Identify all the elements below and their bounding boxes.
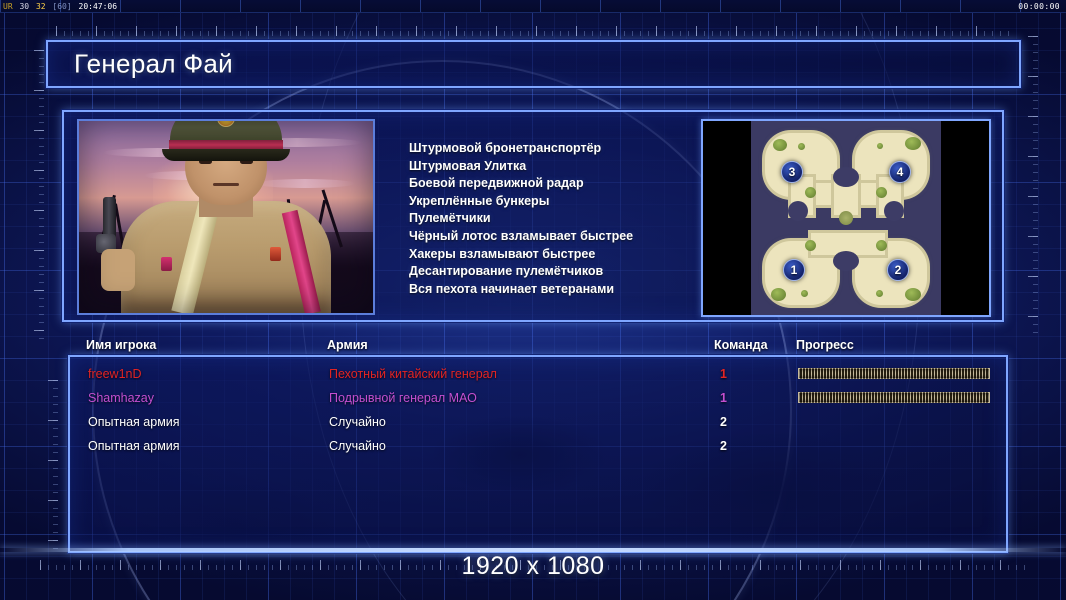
map-tree-cluster xyxy=(905,137,921,150)
ability-list: Штурмовой бронетранспортёр Штурмовая Ули… xyxy=(409,140,699,298)
ability-item: Штурмовая Улитка xyxy=(409,158,699,176)
page-title: Генерал Фай xyxy=(74,49,233,80)
column-header-progress: Прогресс xyxy=(796,338,854,352)
performance-readout: UR 30 32 [60] 20:47:06 xyxy=(2,0,118,13)
ruler-top xyxy=(56,26,1016,36)
map-tree-cluster xyxy=(801,290,808,297)
ruler-right xyxy=(1028,36,1038,336)
table-row[interactable]: freew1nD Пехотный китайский генерал 1 xyxy=(70,363,1006,387)
map-terrain-pit xyxy=(833,167,859,187)
perf-timestamp: 20:47:06 xyxy=(78,2,119,11)
map-letterbox-right xyxy=(941,121,989,315)
map-tree-cluster xyxy=(773,139,787,151)
map-canvas: 3 4 1 2 xyxy=(751,121,941,315)
map-tree-cluster xyxy=(877,143,883,149)
perf-bracket: [60] xyxy=(51,2,72,11)
player-name[interactable]: Опытная армия xyxy=(88,437,180,455)
general-portrait xyxy=(77,119,375,315)
map-terrain-pit xyxy=(788,201,808,221)
progress-bar-fill xyxy=(798,392,990,403)
player-army[interactable]: Случайно xyxy=(329,437,386,455)
map-tree-cluster xyxy=(876,290,883,297)
map-spawn-marker-4[interactable]: 4 xyxy=(889,161,911,183)
portrait-vignette xyxy=(79,121,373,313)
table-row[interactable]: Опытная армия Случайно 2 xyxy=(70,435,1006,459)
map-spawn-marker-2[interactable]: 2 xyxy=(887,259,909,281)
column-header-team: Команда xyxy=(714,338,768,352)
player-team[interactable]: 2 xyxy=(720,437,727,455)
player-team[interactable]: 1 xyxy=(720,365,727,383)
map-tree-cluster xyxy=(905,288,921,301)
ruler-left-lower xyxy=(48,380,58,550)
perf-label-ur: UR xyxy=(2,2,14,11)
player-name[interactable]: freew1nD xyxy=(88,365,142,383)
player-progress xyxy=(798,392,990,403)
map-spawn-marker-3[interactable]: 3 xyxy=(781,161,803,183)
ability-item: Укреплённые бункеры xyxy=(409,193,699,211)
table-row[interactable]: Опытная армия Случайно 2 xyxy=(70,411,1006,435)
general-info-panel: Штурмовой бронетранспортёр Штурмовая Ули… xyxy=(62,110,1004,322)
map-terrain-pit xyxy=(884,201,904,221)
map-tree-cluster xyxy=(798,143,805,150)
map-terrain-pit xyxy=(833,251,859,271)
game-lobby-screen: UR 30 32 [60] 20:47:06 00:00:00 Генерал … xyxy=(0,0,1066,600)
map-tree-cluster xyxy=(876,240,887,251)
player-team[interactable]: 2 xyxy=(720,413,727,431)
ruler-left xyxy=(34,50,44,340)
perf-fps: 30 xyxy=(18,2,30,11)
map-tree-cluster xyxy=(876,187,887,198)
map-tree-cluster xyxy=(805,240,816,251)
column-header-army: Армия xyxy=(327,338,368,352)
match-clock: 00:00:00 xyxy=(1018,0,1060,13)
ability-item: Хакеры взламывают быстрее xyxy=(409,246,699,264)
map-tree-cluster xyxy=(805,187,816,198)
table-row[interactable]: Shamhazay Подрывной генерал МАО 1 xyxy=(70,387,1006,411)
ability-item: Штурмовой бронетранспортёр xyxy=(409,140,699,158)
ability-item: Боевой передвижной радар xyxy=(409,175,699,193)
player-army[interactable]: Подрывной генерал МАО xyxy=(329,389,477,407)
player-team[interactable]: 1 xyxy=(720,389,727,407)
ability-item: Десантирование пулемётчиков xyxy=(409,263,699,281)
player-progress xyxy=(798,368,990,379)
progress-bar-fill xyxy=(798,368,990,379)
player-army[interactable]: Пехотный китайский генерал xyxy=(329,365,497,383)
player-roster-panel: freew1nD Пехотный китайский генерал 1 Sh… xyxy=(68,355,1008,553)
player-name[interactable]: Опытная армия xyxy=(88,413,180,431)
player-name[interactable]: Shamhazay xyxy=(88,389,154,407)
map-preview[interactable]: 3 4 1 2 xyxy=(701,119,991,317)
player-army[interactable]: Случайно xyxy=(329,413,386,431)
map-center-objective xyxy=(839,211,853,225)
resolution-label: 1920 x 1080 xyxy=(0,552,1066,581)
topbar-grid-ticks xyxy=(0,0,1066,12)
portrait-image xyxy=(79,121,373,313)
ability-item: Вся пехота начинает ветеранами xyxy=(409,281,699,299)
roster-header-row: Имя игрока Армия Команда Прогресс xyxy=(68,338,1008,356)
perf-value: 32 xyxy=(35,2,47,11)
player-rows: freew1nD Пехотный китайский генерал 1 Sh… xyxy=(70,363,1006,459)
top-status-bar: UR 30 32 [60] 20:47:06 00:00:00 xyxy=(0,0,1066,13)
map-tree-cluster xyxy=(771,288,786,301)
map-spawn-marker-1[interactable]: 1 xyxy=(783,259,805,281)
ability-item: Пулемётчики xyxy=(409,210,699,228)
column-header-name: Имя игрока xyxy=(86,338,156,352)
title-panel: Генерал Фай xyxy=(46,40,1021,88)
ability-item: Чёрный лотос взламывает быстрее xyxy=(409,228,699,246)
map-letterbox-left xyxy=(703,121,751,315)
